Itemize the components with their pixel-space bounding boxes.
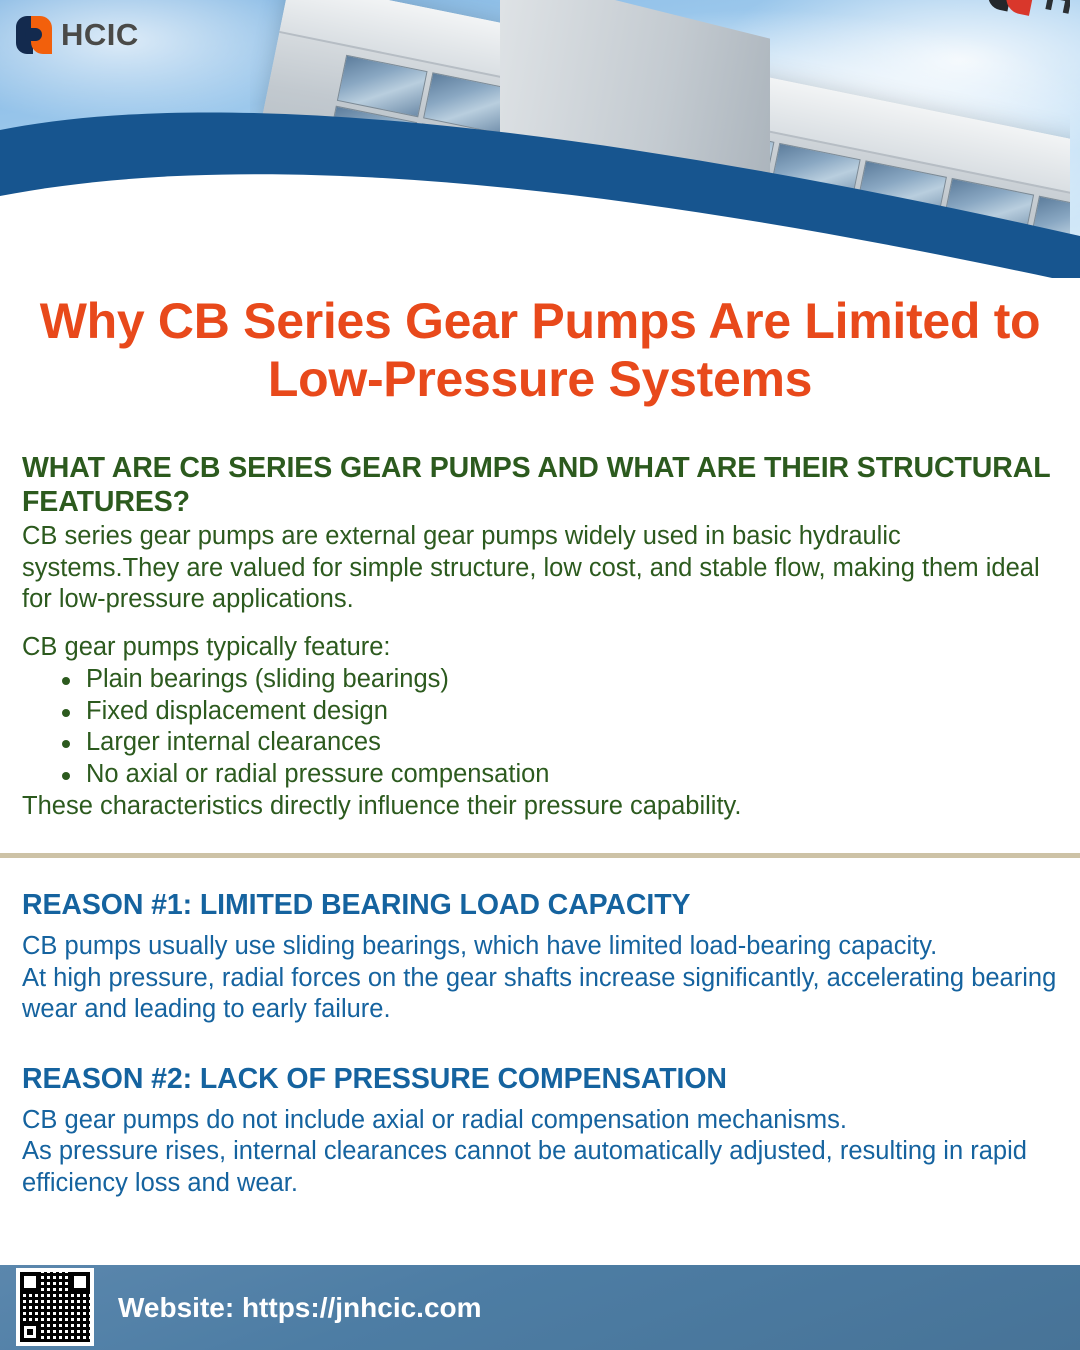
list-item: Fixed displacement design	[22, 696, 1060, 728]
features-intro: CB gear pumps typically feature:	[22, 632, 1060, 663]
reason-2-heading: REASON #2: LACK OF PRESSURE COMPENSATION	[22, 1062, 1060, 1096]
intro-heading: WHAT ARE CB SERIES GEAR PUMPS AND WHAT A…	[22, 452, 1060, 519]
intro-section: WHAT ARE CB SERIES GEAR PUMPS AND WHAT A…	[22, 452, 1060, 823]
reason-1-heading: REASON #1: LIMITED BEARING LOAD CAPACITY	[22, 888, 1060, 922]
features-list: Plain bearings (sliding bearings) Fixed …	[22, 664, 1060, 792]
page-title: Why CB Series Gear Pumps Are Limited to …	[22, 292, 1058, 408]
website-label[interactable]: Website: https://jnhcic.com	[118, 1292, 482, 1324]
hcic-mark-icon	[16, 16, 52, 54]
intro-paragraph: CB series gear pumps are external gear p…	[22, 521, 1060, 615]
list-item: Larger internal clearances	[22, 727, 1060, 759]
section-divider	[0, 853, 1080, 858]
brand-logo: HCIC	[16, 16, 139, 54]
features-closing: These characteristics directly influence…	[22, 791, 1060, 822]
reasons-section: REASON #1: LIMITED BEARING LOAD CAPACITY…	[22, 888, 1060, 1199]
blue-wave-band	[0, 0, 1080, 278]
qr-code-icon[interactable]	[16, 1268, 94, 1346]
hero-banner: HCIC 华辰重工 HCIC	[0, 0, 1080, 278]
reason-1-body: CB pumps usually use sliding bearings, w…	[22, 931, 1060, 1025]
reason-2-body: CB gear pumps do not include axial or ra…	[22, 1105, 1060, 1199]
list-item: No axial or radial pressure compensation	[22, 759, 1060, 791]
brand-logo-text: HCIC	[61, 17, 139, 53]
list-item: Plain bearings (sliding bearings)	[22, 664, 1060, 696]
footer-bar: Website: https://jnhcic.com	[0, 1265, 1080, 1350]
